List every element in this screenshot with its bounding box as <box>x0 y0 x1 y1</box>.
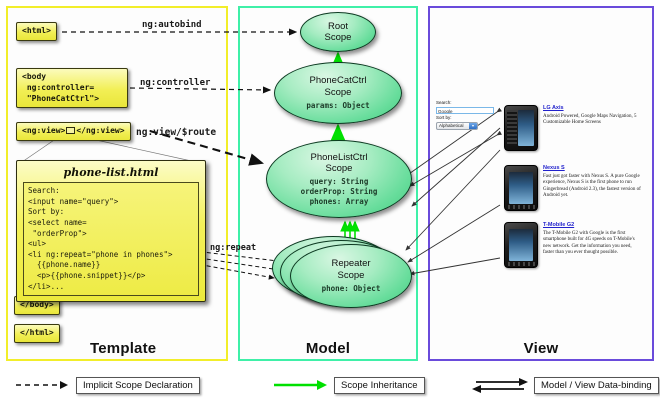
scope-repeater: Repeater Scope phone: Object <box>290 244 412 308</box>
ng-view-tag: <ng:view></ng:view> <box>16 122 131 141</box>
phone-thumbnail-image <box>504 222 538 268</box>
phone-screen-icon <box>509 229 533 261</box>
phone-snippet: The T-Mobile G2 with Google is the first… <box>543 231 641 257</box>
sort-by-selected-value: Alphabetical <box>439 123 464 128</box>
scope-phonecatctrl-title-line2: Scope <box>325 87 352 98</box>
chevron-down-icon: ▾ <box>469 123 477 129</box>
html-open-tag: <html> <box>16 22 57 41</box>
search-label: Search: <box>436 100 498 107</box>
callout-title: phone-list.html <box>23 165 199 182</box>
scope-phonecatctrl-title-line1: PhoneCatCtrl <box>309 75 366 86</box>
phone-screen-icon <box>518 110 534 146</box>
scope-phonelistctrl-title-line1: PhoneListCtrl <box>310 152 367 163</box>
scope-repeater-title-line1: Repeater <box>331 258 370 269</box>
edge-label-ng-repeat: ng:repeat <box>210 243 256 253</box>
phone-name-link[interactable]: LG Axis <box>543 105 641 112</box>
phone-thumbnail-image <box>504 165 538 211</box>
scope-phonelistctrl: PhoneListCtrl Scope query: String orderP… <box>266 140 412 218</box>
dashed-arrow-icon <box>14 376 70 394</box>
phone-info: Nexus S Fast just got faster with Nexus … <box>543 165 641 211</box>
view-search-form: Search: Google Sort by: Alphabetical ▾ <box>436 100 498 130</box>
sort-by-select[interactable]: Alphabetical ▾ <box>436 122 478 130</box>
phone-name-link[interactable]: Nexus S <box>543 165 641 172</box>
edge-label-ng-view-route: ng:view/$route <box>136 127 216 138</box>
scope-phonelistctrl-title-line2: Scope <box>326 163 353 174</box>
scope-phonecatctrl: PhoneCatCtrl Scope params: Object <box>274 62 402 124</box>
scope-root: Root Scope <box>300 12 376 52</box>
column-label-view: View <box>430 340 652 357</box>
scope-root-title-line2: Scope <box>325 32 352 43</box>
legend: Implicit Scope Declaration Scope Inherit… <box>0 372 660 405</box>
body-open-tag: <body ng:controller= "PhoneCatCtrl"> <box>16 68 128 108</box>
phone-keyboard-icon <box>507 110 517 146</box>
legend-item-model-view-data-binding: Model / View Data-binding <box>472 376 659 394</box>
phone-list-item: Nexus S Fast just got faster with Nexus … <box>504 165 641 211</box>
phone-thumbnail-image <box>504 105 538 151</box>
green-arrow-icon <box>272 376 328 394</box>
scope-root-title-line1: Root <box>328 21 348 32</box>
sort-by-label: Sort by: <box>436 115 498 122</box>
scope-repeater-props: phone: Object <box>322 284 381 294</box>
double-arrow-icon <box>472 376 528 394</box>
legend-item-implicit-scope-declaration: Implicit Scope Declaration <box>14 376 200 394</box>
phone-list-html-callout: phone-list.html Search: <input name="que… <box>16 160 206 302</box>
legend-label: Scope Inheritance <box>334 377 425 394</box>
phone-name-link[interactable]: T-Mobile G2 <box>543 222 641 229</box>
legend-label: Model / View Data-binding <box>534 377 659 394</box>
legend-label: Implicit Scope Declaration <box>76 377 200 394</box>
phone-screen-icon <box>509 172 533 204</box>
phone-speaker-icon <box>505 205 537 209</box>
edge-label-autobind: ng:autobind <box>142 20 202 30</box>
phone-speaker-icon <box>505 262 537 266</box>
ng-view-open-label: <ng:view> <box>22 126 65 135</box>
phone-snippet: Android Powered, Google Maps Navigation,… <box>543 114 641 127</box>
scope-repeater-title-line2: Scope <box>338 270 365 281</box>
phone-list-item: LG Axis Android Powered, Google Maps Nav… <box>504 105 641 151</box>
ng-view-slot-icon <box>66 127 75 134</box>
ng-view-close-label: </ng:view> <box>76 126 124 135</box>
legend-item-scope-inheritance: Scope Inheritance <box>272 376 425 394</box>
search-input[interactable]: Google <box>436 107 494 114</box>
phone-info: LG Axis Android Powered, Google Maps Nav… <box>543 105 641 151</box>
callout-code: Search: <input name="query"> Sort by: <s… <box>23 182 199 296</box>
phone-info: T-Mobile G2 The T-Mobile G2 with Google … <box>543 222 641 268</box>
column-label-model: Model <box>240 340 416 357</box>
scope-phonecatctrl-props: params: Object <box>306 101 369 111</box>
phone-list-item: T-Mobile G2 The T-Mobile G2 with Google … <box>504 222 641 268</box>
scope-phonelistctrl-props: query: String orderProp: String phones: … <box>301 177 378 206</box>
html-close-tag: </html> <box>14 324 60 343</box>
edge-label-controller: ng:controller <box>140 78 210 88</box>
angularjs-architecture-diagram: Template Model View <box>0 0 660 405</box>
phone-snippet: Fast just got faster with Nexus S. A pur… <box>543 174 641 200</box>
